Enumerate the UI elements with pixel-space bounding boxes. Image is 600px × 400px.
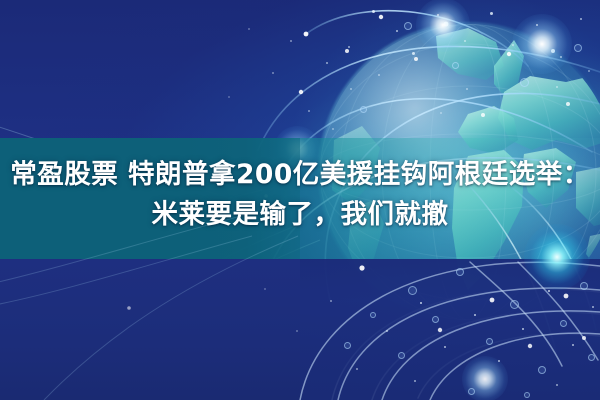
headline-line-1: 常盈股票 特朗普拿200亿美援挂钩阿根廷选举：: [0, 155, 600, 195]
headline-line-2: 米莱要是输了，我们就撤: [0, 195, 600, 235]
news-banner-image: 常盈股票 特朗普拿200亿美援挂钩阿根廷选举： 米莱要是输了，我们就撤: [0, 0, 600, 400]
headline-text: 常盈股票 特朗普拿200亿美援挂钩阿根廷选举： 米莱要是输了，我们就撤: [0, 155, 600, 235]
